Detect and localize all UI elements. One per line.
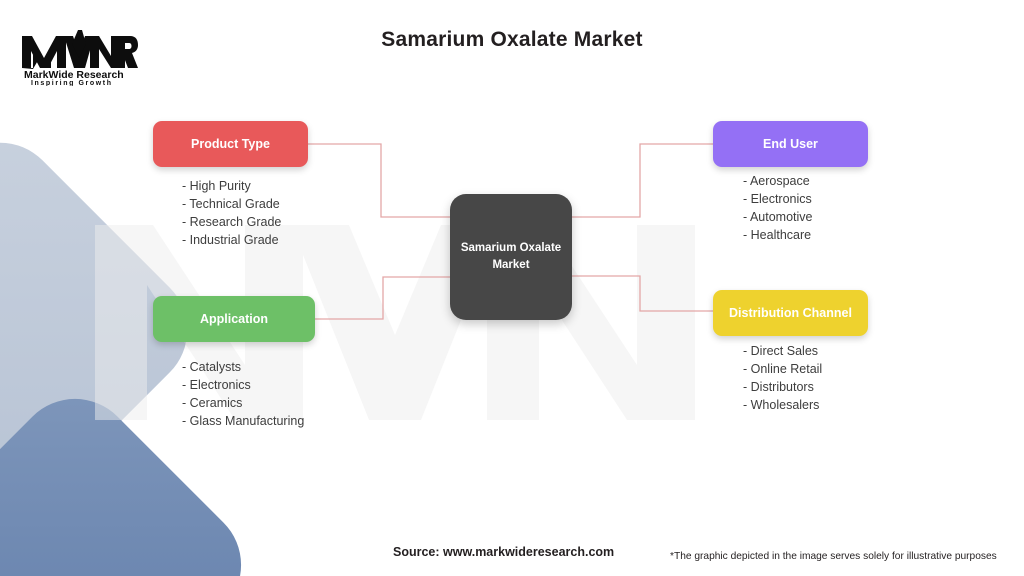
list-item: - Ceramics xyxy=(182,395,304,413)
connector-distribution-channel xyxy=(572,276,713,311)
center-node[interactable]: Samarium Oxalate Market xyxy=(450,194,572,320)
list-item: - Wholesalers xyxy=(743,397,822,415)
brand-tagline-text: Inspiring Growth xyxy=(31,80,113,86)
segment-box-application[interactable]: Application xyxy=(153,296,315,342)
segment-list-product-type: - High Purity - Technical Grade - Resear… xyxy=(182,178,281,250)
list-item: - Online Retail xyxy=(743,361,822,379)
list-item: - Electronics xyxy=(743,191,812,209)
list-item: - Automotive xyxy=(743,209,812,227)
connector-application xyxy=(315,277,450,319)
segment-box-end-user[interactable]: End User xyxy=(713,121,868,167)
list-item: - High Purity xyxy=(182,178,281,196)
segment-list-distribution-channel: - Direct Sales - Online Retail - Distrib… xyxy=(743,343,822,415)
infographic-canvas: MarkWide Research Inspiring Growth Samar… xyxy=(0,0,1024,576)
list-item: - Healthcare xyxy=(743,227,812,245)
list-item: - Electronics xyxy=(182,377,304,395)
list-item: - Research Grade xyxy=(182,214,281,232)
list-item: - Direct Sales xyxy=(743,343,822,361)
connector-product-type xyxy=(308,144,450,217)
segment-list-application: - Catalysts - Electronics - Ceramics - G… xyxy=(182,359,304,431)
segment-label-application: Application xyxy=(200,312,268,326)
segment-label-end-user: End User xyxy=(763,137,818,151)
segment-box-product-type[interactable]: Product Type xyxy=(153,121,308,167)
disclaimer-text: *The graphic depicted in the image serve… xyxy=(670,551,997,562)
connector-end-user xyxy=(572,144,713,217)
list-item: - Distributors xyxy=(743,379,822,397)
list-item: - Glass Manufacturing xyxy=(182,413,304,431)
list-item: - Catalysts xyxy=(182,359,304,377)
center-node-label: Samarium Oxalate Market xyxy=(460,240,562,273)
segment-box-distribution-channel[interactable]: Distribution Channel xyxy=(713,290,868,336)
list-item: - Aerospace xyxy=(743,173,812,191)
segment-label-distribution-channel: Distribution Channel xyxy=(729,306,852,320)
page-title: Samarium Oxalate Market xyxy=(0,28,1024,52)
source-label[interactable]: Source: www.markwideresearch.com xyxy=(393,545,614,559)
segment-label-product-type: Product Type xyxy=(191,137,270,151)
list-item: - Industrial Grade xyxy=(182,232,281,250)
list-item: - Technical Grade xyxy=(182,196,281,214)
segment-list-end-user: - Aerospace - Electronics - Automotive -… xyxy=(743,173,812,245)
